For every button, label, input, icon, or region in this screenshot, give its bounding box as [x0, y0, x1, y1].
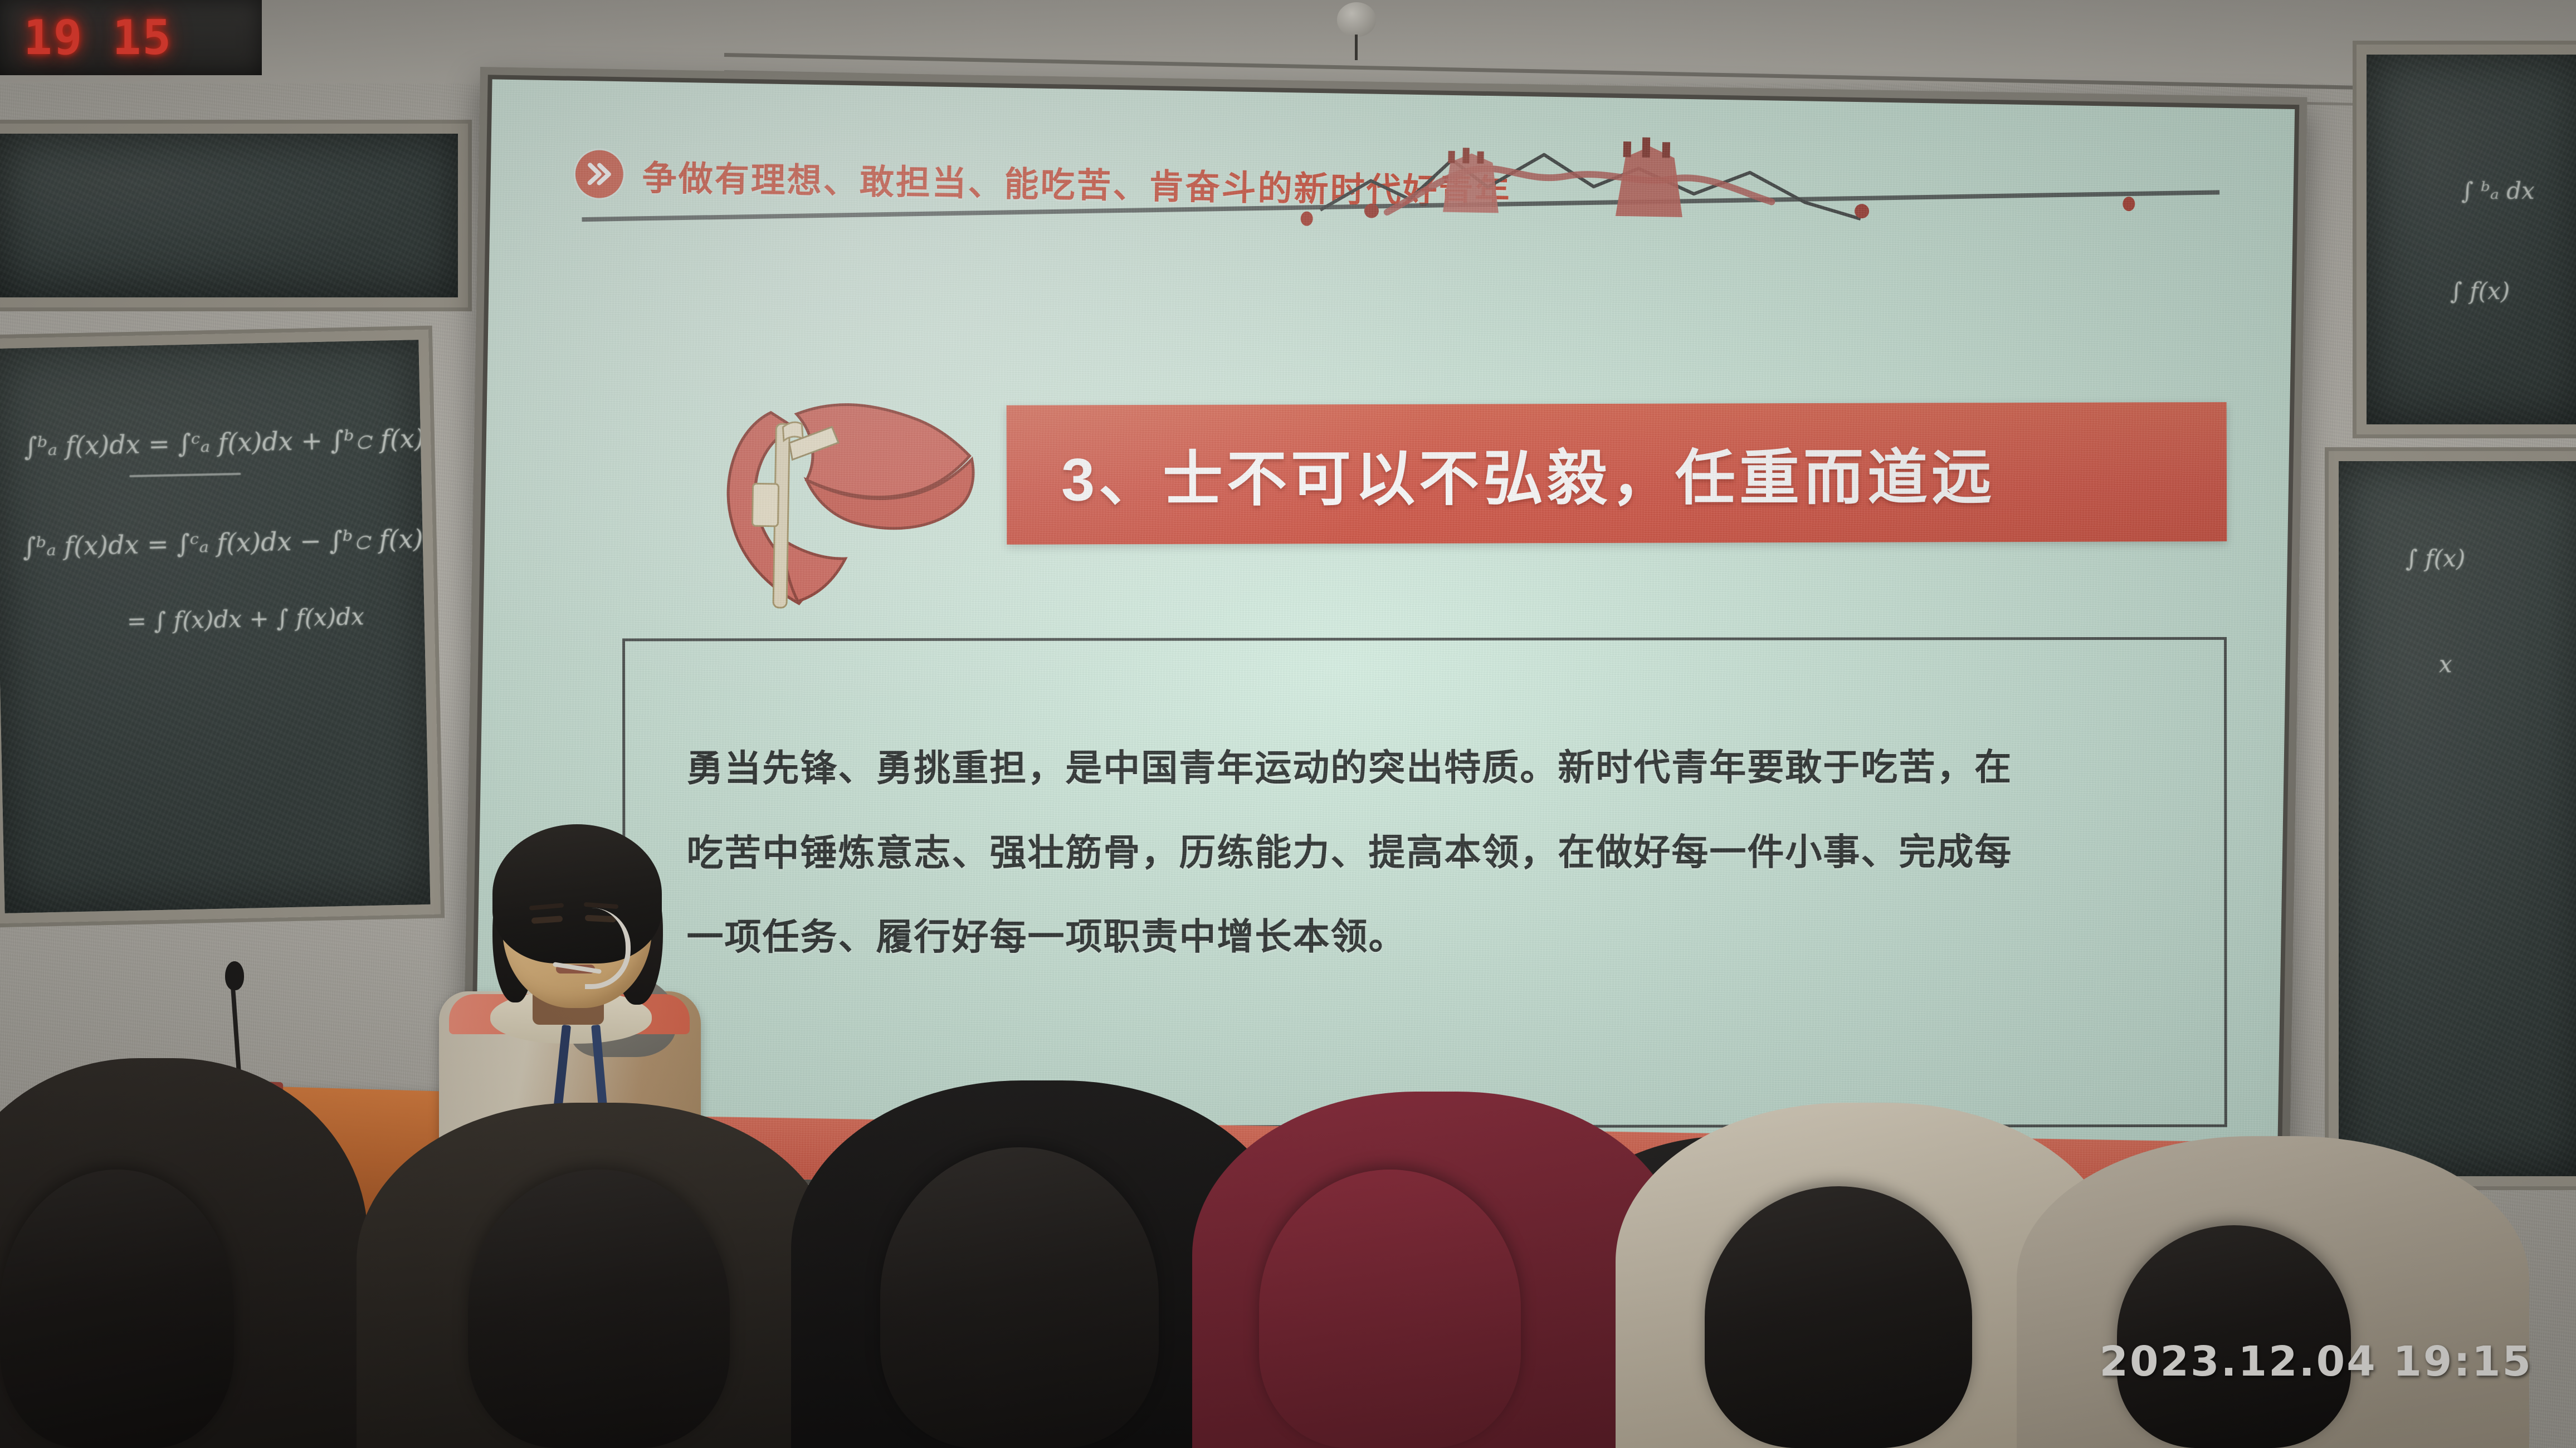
double-chevron-icon — [575, 150, 623, 198]
led-clock-minutes: 15 — [113, 14, 173, 62]
audience-head — [0, 1170, 234, 1448]
audience-hood — [1259, 1170, 1521, 1448]
chalk-dust-texture — [2367, 55, 2576, 424]
chalk-dust-texture — [0, 340, 431, 913]
slide-title-text: 3、士不可以不弘毅，任重而道远 — [1061, 429, 1996, 518]
body-paragraph-line: 勇当先锋、勇挑重担，是中国青年运动的突出特质。新时代青年要敢于吃苦，在 — [686, 736, 2179, 800]
slide-body-text: 勇当先锋、勇挑重担，是中国青年运动的突出特质。新时代青年要敢于吃苦，在 吃苦中锤… — [686, 736, 2179, 990]
blackboard-left-main: ∫ᵇₐ f(x)dx = ∫ᶜₐ f(x)dx + ∫ᵇ𝚌 f(x)dx ∫ᵇₐ… — [0, 330, 441, 924]
photo-canvas: 19 15 ∫ᵇₐ f(x)dx = ∫ᶜₐ f(x)dx + ∫ᵇ𝚌 f(x)… — [0, 0, 2576, 1448]
audience-head — [2117, 1225, 2351, 1448]
blackboard-left-upper — [0, 124, 468, 307]
red-flag-icon — [684, 372, 1011, 645]
ceiling-sensor-wire — [1355, 35, 1358, 60]
ceiling-sensor-icon — [1337, 2, 1376, 37]
speaker-hair-top — [492, 824, 662, 963]
led-clock-hours: 19 — [23, 14, 84, 62]
ceiling — [0, 0, 2576, 84]
audience-head — [1705, 1186, 1972, 1448]
blackboard-right-upper: ∫ ᵇₐ dx ∫ f(x) — [2357, 45, 2576, 434]
audience-head — [468, 1170, 730, 1448]
great-wall-mountain-icon — [1303, 126, 2140, 241]
body-paragraph-line: 吃苦中锤炼意志、强壮筋骨，历练能力、提高本领，在做好每一件小事、完成每 — [686, 820, 2179, 884]
timestamp-overlay: 2023.12.04 19:15 — [2100, 1338, 2533, 1386]
slide-title-banner: 3、士不可以不弘毅，任重而道远 — [1007, 402, 2227, 545]
chalk-dust-texture — [0, 134, 458, 297]
led-wall-clock: 19 15 — [0, 0, 262, 75]
microphone-icon — [225, 961, 244, 990]
body-paragraph-line: 一项任务、履行好每一项职责中增长本领。 — [686, 904, 2179, 969]
audience-head — [880, 1147, 1159, 1448]
